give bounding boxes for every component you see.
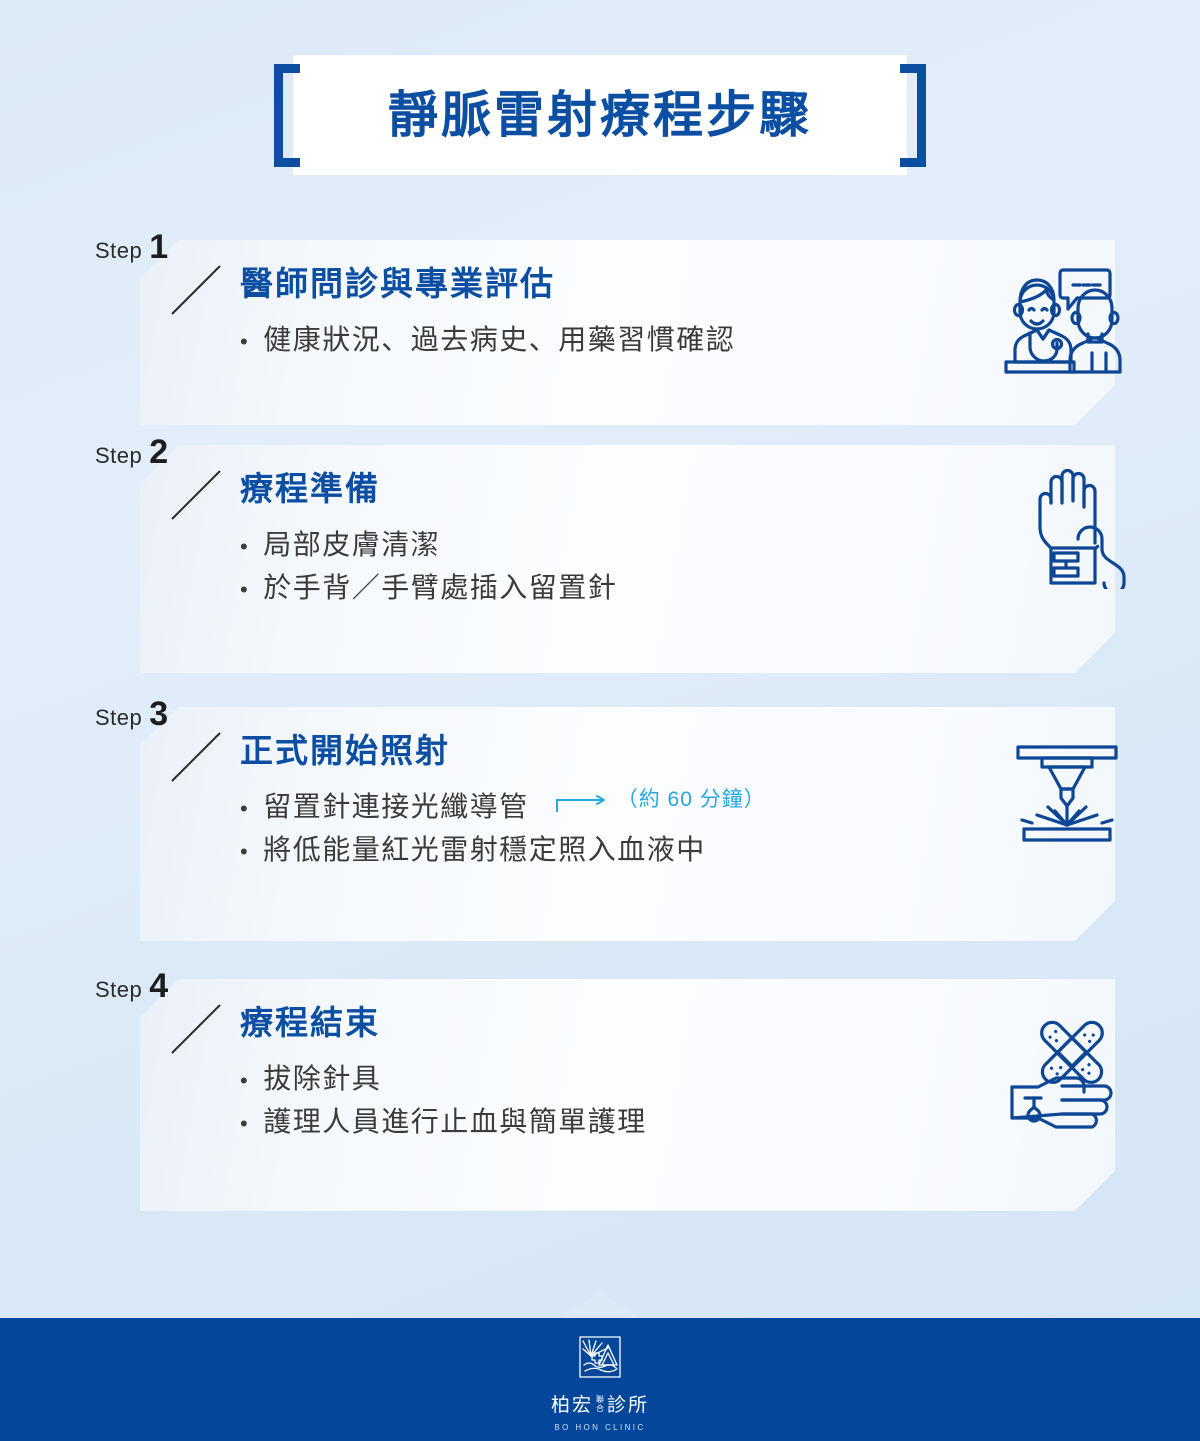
bullet-text: 護理人員進行止血與簡單護理 bbox=[263, 1100, 647, 1143]
step-title: 醫師問診與專業評估 bbox=[240, 264, 735, 304]
step-content: 療程結束 • 拔除針具 • 護理人員進行止血與簡單護理 bbox=[240, 1003, 647, 1143]
step-label: Step 1 bbox=[95, 232, 168, 264]
step-label: Step 3 bbox=[95, 699, 168, 731]
step-item: Step 3 正式開始照射 • 留置針連接光纖導管 （約 60 分鐘） bbox=[0, 699, 1200, 971]
step-content: 療程準備 • 局部皮膚清潔 • 於手背／手臂處插入留置針 bbox=[240, 469, 617, 609]
bullet-dot-icon: • bbox=[240, 530, 249, 564]
diagonal-slash-icon bbox=[168, 467, 224, 523]
duration-annotation: （約 60 分鐘） bbox=[555, 784, 766, 817]
clinic-landscape-logo-icon bbox=[578, 1335, 622, 1384]
laser-device-icon bbox=[1004, 741, 1130, 851]
bullet-dot-icon: • bbox=[240, 835, 249, 869]
bracket-left-decoration bbox=[274, 64, 300, 167]
footer-notch-decoration bbox=[0, 1292, 1200, 1318]
step-number: 4 bbox=[149, 971, 168, 1002]
page-title-banner: 靜脈雷射療程步驟 bbox=[0, 52, 1200, 177]
step-label: Step 4 bbox=[95, 971, 168, 1003]
bullet-item: • 將低能量紅光雷射穩定照入血液中 bbox=[240, 828, 766, 871]
title-banner-box: 靜脈雷射療程步驟 bbox=[293, 55, 907, 175]
step-label: Step 2 bbox=[95, 437, 168, 469]
clinic-name-sub: 聯 合 bbox=[596, 1396, 604, 1413]
bullet-dot-icon: • bbox=[240, 1107, 249, 1141]
bullet-text: 健康狀況、過去病史、用藥習慣確認 bbox=[263, 318, 735, 361]
bullet-dot-icon: • bbox=[240, 573, 249, 607]
step-title: 正式開始照射 bbox=[240, 731, 766, 771]
step-number: 2 bbox=[149, 437, 168, 468]
bullet-text: 將低能量紅光雷射穩定照入血液中 bbox=[263, 828, 706, 871]
bandage-hand-icon bbox=[1006, 1019, 1130, 1131]
bullet-text: 留置針連接光纖導管 bbox=[263, 785, 529, 828]
page-footer: 柏宏 聯 合 診所 BO HON CLINIC bbox=[0, 1318, 1200, 1441]
bullet-dot-icon: • bbox=[240, 325, 249, 359]
clinic-name-sub-bottom: 合 bbox=[596, 1405, 604, 1413]
clinic-name-en: BO HON CLINIC bbox=[554, 1423, 645, 1432]
bullet-item: • 護理人員進行止血與簡單護理 bbox=[240, 1100, 647, 1143]
step-content: 正式開始照射 • 留置針連接光纖導管 （約 60 分鐘） • 將低能量紅 bbox=[240, 731, 766, 871]
bullet-item: • 於手背／手臂處插入留置針 bbox=[240, 566, 617, 609]
step-bullet-list: • 留置針連接光纖導管 （約 60 分鐘） • 將低能量紅光雷射穩定照入血液中 bbox=[240, 785, 766, 872]
bullet-text: 於手背／手臂處插入留置針 bbox=[263, 566, 617, 609]
clinic-name-zh: 柏宏 聯 合 診所 bbox=[551, 1390, 649, 1417]
duration-text: （約 60 分鐘） bbox=[617, 784, 766, 817]
step-word: Step bbox=[95, 238, 142, 264]
step-bullet-list: • 拔除針具 • 護理人員進行止血與簡單護理 bbox=[240, 1057, 647, 1144]
bullet-dot-icon: • bbox=[240, 1064, 249, 1098]
clinic-logo: 柏宏 聯 合 診所 BO HON CLINIC bbox=[551, 1335, 649, 1432]
step-word: Step bbox=[95, 977, 142, 1003]
step-number: 1 bbox=[149, 232, 168, 263]
doctor-patient-consultation-icon bbox=[1000, 258, 1130, 376]
bullet-item: • 留置針連接光纖導管 （約 60 分鐘） bbox=[240, 785, 766, 828]
diagonal-slash-icon bbox=[168, 729, 224, 785]
bullet-dot-icon: • bbox=[240, 792, 249, 826]
hand-iv-catheter-icon bbox=[1010, 467, 1130, 589]
step-item: Step 2 療程準備 • 局部皮膚清潔 • 於手背／手臂處插入留置針 bbox=[0, 437, 1200, 699]
bullet-text: 拔除針具 bbox=[263, 1057, 381, 1100]
step-item: Step 1 醫師問診與專業評估 • 健康狀況、過去病史、用藥習慣確認 bbox=[0, 232, 1200, 437]
step-word: Step bbox=[95, 443, 142, 469]
step-bullet-list: • 局部皮膚清潔 • 於手背／手臂處插入留置針 bbox=[240, 523, 617, 610]
steps-list: Step 1 醫師問診與專業評估 • 健康狀況、過去病史、用藥習慣確認 bbox=[0, 232, 1200, 1233]
step-word: Step bbox=[95, 705, 142, 731]
bullet-item: • 局部皮膚清潔 bbox=[240, 523, 617, 566]
bullet-item: • 拔除針具 bbox=[240, 1057, 647, 1100]
bullet-text: 局部皮膚清潔 bbox=[263, 523, 440, 566]
step-number: 3 bbox=[149, 699, 168, 730]
step-title: 療程結束 bbox=[240, 1003, 647, 1043]
step-bullet-list: • 健康狀況、過去病史、用藥習慣確認 bbox=[240, 318, 735, 361]
page-title: 靜脈雷射療程步驟 bbox=[388, 90, 812, 140]
clinic-name-part-2: 診所 bbox=[607, 1390, 649, 1417]
clinic-name-part-1: 柏宏 bbox=[551, 1390, 593, 1417]
bullet-item: • 健康狀況、過去病史、用藥習慣確認 bbox=[240, 318, 735, 361]
bracket-right-decoration bbox=[900, 64, 926, 167]
step-item: Step 4 療程結束 • 拔除針具 • 護理人員進行止血與簡單護理 bbox=[0, 971, 1200, 1233]
step-content: 醫師問診與專業評估 • 健康狀況、過去病史、用藥習慣確認 bbox=[240, 264, 735, 361]
diagonal-slash-icon bbox=[168, 1001, 224, 1057]
diagonal-slash-icon bbox=[168, 262, 224, 318]
step-title: 療程準備 bbox=[240, 469, 617, 509]
